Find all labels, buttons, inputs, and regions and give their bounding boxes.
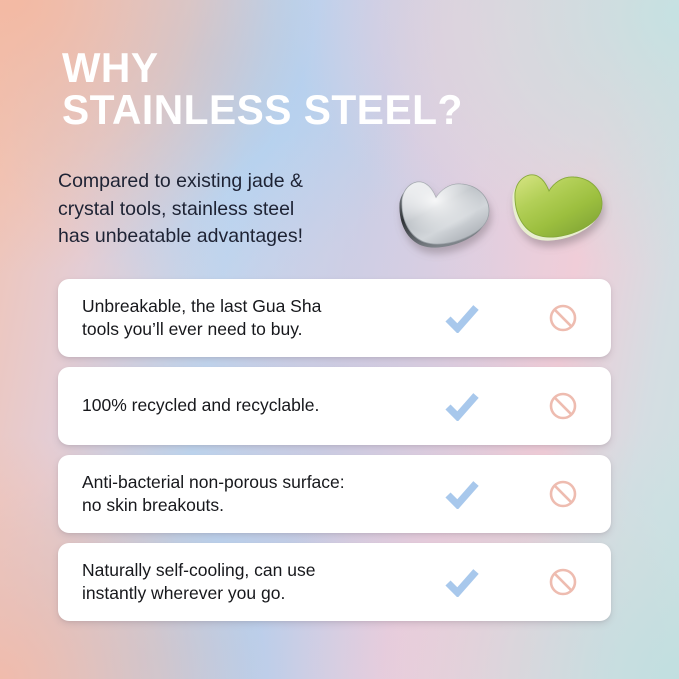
- table-row: 100% recycled and recyclable.: [58, 367, 611, 445]
- feature-text: Naturally self-cooling, can use instantl…: [58, 559, 412, 606]
- jade-crystal-cell: [526, 279, 600, 357]
- page-title: WHY STAINLESS STEEL?: [62, 47, 463, 130]
- prohibition-icon: [548, 479, 578, 509]
- feature-text: Anti-bacterial non-porous surface: no sk…: [58, 471, 412, 518]
- feature-text: Unbreakable, the last Gua Sha tools you’…: [58, 295, 412, 342]
- table-row: Anti-bacterial non-porous surface: no sk…: [58, 455, 611, 533]
- stainless-steel-cell: [425, 543, 499, 621]
- check-icon: [445, 391, 479, 421]
- stainless-steel-cell: [425, 279, 499, 357]
- prohibition-icon: [548, 391, 578, 421]
- comparison-table: Unbreakable, the last Gua Sha tools you’…: [58, 279, 611, 621]
- feature-text: 100% recycled and recyclable.: [58, 394, 412, 417]
- prohibition-icon: [548, 303, 578, 333]
- stainless-steel-cell: [425, 367, 499, 445]
- subtitle-text: Compared to existing jade & crystal tool…: [58, 168, 388, 251]
- stainless-steel-cell: [425, 455, 499, 533]
- jade-gua-sha-image: [505, 160, 610, 248]
- table-row: Naturally self-cooling, can use instantl…: [58, 543, 611, 621]
- check-icon: [445, 479, 479, 509]
- prohibition-icon: [548, 567, 578, 597]
- jade-crystal-cell: [526, 543, 600, 621]
- check-icon: [445, 303, 479, 333]
- jade-crystal-cell: [526, 367, 600, 445]
- check-icon: [445, 567, 479, 597]
- poster-canvas: WHY STAINLESS STEEL? Compared to existin…: [0, 0, 679, 679]
- jade-crystal-cell: [526, 455, 600, 533]
- stainless-steel-gua-sha-image: [393, 166, 498, 254]
- table-row: Unbreakable, the last Gua Sha tools you’…: [58, 279, 611, 357]
- product-images: [393, 160, 623, 265]
